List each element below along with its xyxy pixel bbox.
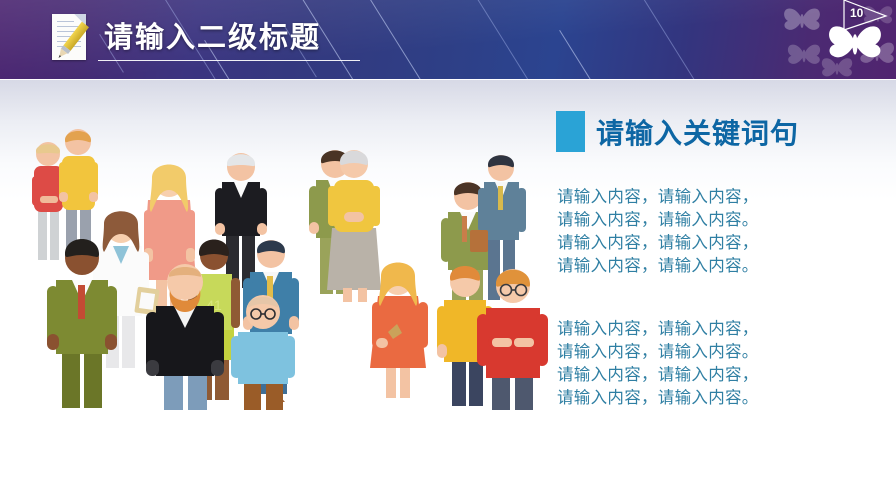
body-paragraph-2: 请输入内容，请输入内容， 请输入内容，请输入内容。 请输入内容，请输入内容， 请… — [557, 318, 759, 410]
butterfly-icon — [786, 42, 822, 68]
slide-header-bar: 10 请输入二级标题 — [0, 0, 896, 79]
paragraph-line: 请输入内容，请输入内容， — [557, 318, 759, 341]
keyword-heading: 请输入关键词句 — [596, 112, 799, 152]
butterfly-icon — [782, 6, 822, 34]
paragraph-line: 请输入内容，请输入内容， — [557, 364, 759, 387]
keyword-heading-bullet — [556, 111, 585, 152]
paragraph-line: 请输入内容，请输入内容， — [557, 232, 759, 255]
paragraph-line: 请输入内容，请输入内容。 — [557, 341, 759, 364]
header-title: 请输入二级标题 — [104, 14, 321, 56]
page-number-label: 10 — [850, 6, 863, 20]
paragraph-line: 请输入内容，请输入内容。 — [557, 255, 759, 278]
paragraph-line: 请输入内容，请输入内容。 — [557, 209, 759, 232]
butterfly-icon — [820, 56, 854, 79]
page-number-badge: 10 — [836, 0, 892, 36]
header-title-underline — [98, 60, 360, 61]
slide-canvas: 10 请输入二级标题 — [0, 0, 896, 504]
person-figure — [32, 142, 65, 260]
triangle-outline-icon — [836, 0, 892, 36]
body-paragraph-1: 请输入内容，请输入内容， 请输入内容，请输入内容。 请输入内容，请输入内容， 请… — [557, 186, 759, 278]
paragraph-line: 请输入内容，请输入内容。 — [557, 387, 759, 410]
paragraph-line: 请输入内容，请输入内容， — [557, 186, 759, 209]
document-pencil-icon — [52, 14, 98, 64]
person-figure — [477, 269, 548, 410]
crowd-of-people-illustration: 41 — [0, 120, 560, 410]
butterfly-icon — [858, 40, 896, 67]
person-figure — [215, 153, 267, 288]
